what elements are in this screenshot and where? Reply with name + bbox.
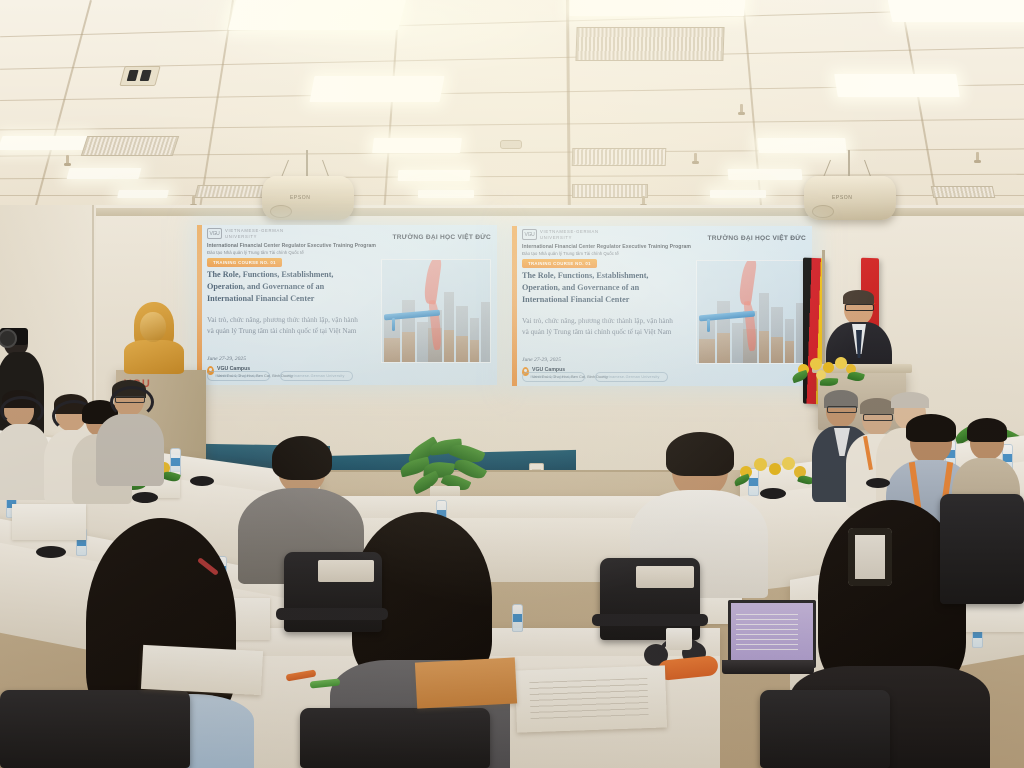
ceiling-light-panel [728, 169, 803, 180]
slide-image [696, 260, 806, 364]
vgu-logo-line2: UNIVERSITY [540, 235, 599, 240]
ceiling-camera [119, 66, 160, 86]
footer-pill-right: Vietnamese-German University [595, 372, 668, 382]
vietnam-map-shape [423, 259, 442, 305]
course-badge: TRAINING COURSE NO. 01 [207, 258, 282, 267]
conference-mic-base [132, 492, 158, 503]
podium-flowers [792, 352, 866, 392]
projector-lens [270, 205, 292, 218]
ceiling-beam [383, 0, 400, 215]
projector-brand: EPSON [290, 195, 311, 201]
vgu-logo: VGU VIETNAMESE-GERMAN UNIVERSITY [207, 228, 284, 239]
air-vent [575, 27, 724, 61]
slide-date: June 27-29, 2025 [522, 357, 561, 363]
ceiling-projector-left: EPSON [258, 150, 358, 216]
conference-mic-base [36, 546, 66, 558]
ceiling-beam [33, 0, 92, 215]
air-vent [931, 186, 996, 198]
air-vent [572, 148, 667, 166]
projector-lens [812, 205, 834, 218]
conference-room-photo: EPSON EPSON VGU VIETNAMESE-GERMAN UNIVER… [0, 0, 1024, 768]
ceiling-beam [900, 0, 941, 215]
hair [967, 418, 1007, 442]
ceiling-light-panel [0, 136, 89, 150]
office-chair [940, 494, 1024, 604]
projector-brand: EPSON [832, 195, 853, 201]
ceiling-light-panel [710, 190, 766, 198]
hair-clip-icon [848, 528, 892, 586]
slide-title: The Role, Functions, Establishment, Oper… [207, 269, 357, 305]
footer-pill-right: Vietnamese-German University [280, 371, 353, 381]
ceiling-beam [566, 0, 571, 215]
water-bottle [512, 604, 523, 632]
ceiling-light-panel [398, 170, 471, 181]
footer-pill-left: Website: www.vgu.edu.vn [522, 372, 585, 382]
chair-armrest [276, 608, 388, 620]
interpretation-headset [0, 396, 44, 426]
ceiling-light-panel [228, 0, 406, 30]
vgu-logo-mark: VGU [207, 228, 222, 239]
program-title-en: International Financial Center Regulator… [207, 243, 376, 249]
slide-footer: Website: www.vgu.edu.vn Vietnamese-Germa… [207, 371, 353, 381]
footer-pill-left: Website: www.vgu.edu.vn [207, 371, 270, 381]
vgu-logo-line1: VIETNAMESE-GERMAN [540, 229, 599, 234]
university-name-vn: TRƯỜNG ĐẠI HỌC VIỆT ĐỨC [392, 234, 491, 241]
ceiling-light-panel [569, 0, 745, 16]
air-vent [81, 136, 179, 156]
bust-face-shadow [140, 312, 166, 342]
slide-subtitle: Vai trò, chức năng, phương thức thành lậ… [207, 315, 359, 336]
vietnam-map-shape [738, 260, 757, 306]
slide-content-right: VGU VIETNAMESE-GERMAN UNIVERSITY TRƯỜNG … [512, 226, 812, 386]
coffee-cup [666, 628, 692, 650]
program-title-en: International Financial Center Regulator… [522, 244, 691, 250]
slide-date: June 27-29, 2025 [207, 356, 246, 362]
ceiling-light-panel [888, 0, 1024, 22]
attendee-left-4 [96, 376, 166, 480]
ceiling-light-panel [834, 74, 960, 97]
hair [666, 432, 734, 476]
office-chair [760, 690, 890, 768]
laptop-base [722, 660, 814, 674]
document-lines [529, 678, 648, 722]
ceiling-light-panel [418, 190, 474, 198]
chair-mesh-panel [636, 566, 694, 588]
slide-footer: Website: www.vgu.edu.vn Vietnamese-Germa… [522, 372, 668, 382]
sprinkler-head [976, 152, 979, 162]
document-stack [141, 645, 263, 695]
ceiling-light-panel [67, 168, 142, 179]
slide-subtitle: Vai trò, chức năng, phương thức thành lậ… [522, 316, 674, 337]
ceiling-light-panel [372, 138, 462, 153]
office-chair [0, 690, 190, 768]
air-vent [194, 185, 267, 198]
sprinkler-head [694, 153, 697, 163]
ceiling-light-panel [117, 190, 169, 198]
sprinkler-head [740, 104, 743, 114]
sprinkler-head [66, 155, 69, 165]
conference-mic-base [866, 478, 890, 488]
hair [272, 436, 332, 480]
conference-mic-base [190, 476, 214, 486]
ceiling-projector-right: EPSON [800, 150, 900, 216]
ceiling-beam [742, 0, 763, 215]
program-title-vn: Đào tạo Nhà quản lý Trung tâm Tài chính … [207, 250, 304, 255]
office-chair [300, 708, 490, 768]
speaker-glasses-icon [845, 304, 874, 311]
slide-title: The Role, Functions, Establishment, Oper… [522, 270, 672, 306]
vgu-logo-mark: VGU [522, 229, 537, 240]
air-vent [572, 184, 648, 198]
slide-accent-bar [512, 226, 517, 386]
course-badge: TRAINING COURSE NO. 01 [522, 259, 597, 268]
hair [906, 414, 956, 442]
ceiling-light-panel [309, 76, 444, 102]
projection-screen-right: VGU VIETNAMESE-GERMAN UNIVERSITY TRƯỜNG … [512, 226, 812, 386]
slide-content-left: VGU VIETNAMESE-GERMAN UNIVERSITY TRƯỜNG … [197, 225, 497, 385]
slide-image [381, 259, 491, 363]
speaker-hair [843, 290, 874, 304]
folder [415, 657, 517, 708]
slide-accent-bar [197, 225, 202, 385]
program-title-vn: Đào tạo Nhà quản lý Trung tâm Tài chính … [522, 251, 619, 256]
vgu-logo-line1: VIETNAMESE-GERMAN [225, 228, 284, 233]
chair-mesh-panel [318, 560, 374, 582]
laptop [722, 600, 812, 682]
chair-armrest [592, 614, 708, 626]
conference-mic-base [760, 488, 786, 499]
hair [891, 392, 929, 408]
university-name-vn: TRƯỜNG ĐẠI HỌC VIỆT ĐỨC [707, 235, 806, 242]
projection-screen-left: VGU VIETNAMESE-GERMAN UNIVERSITY TRƯỜNG … [197, 225, 497, 385]
vgu-logo: VGU VIETNAMESE-GERMAN UNIVERSITY [522, 229, 599, 240]
smoke-detector [500, 140, 522, 149]
bust-shoulders [124, 340, 184, 374]
laptop-document-lines [736, 614, 798, 654]
vgu-logo-line2: UNIVERSITY [225, 234, 284, 239]
